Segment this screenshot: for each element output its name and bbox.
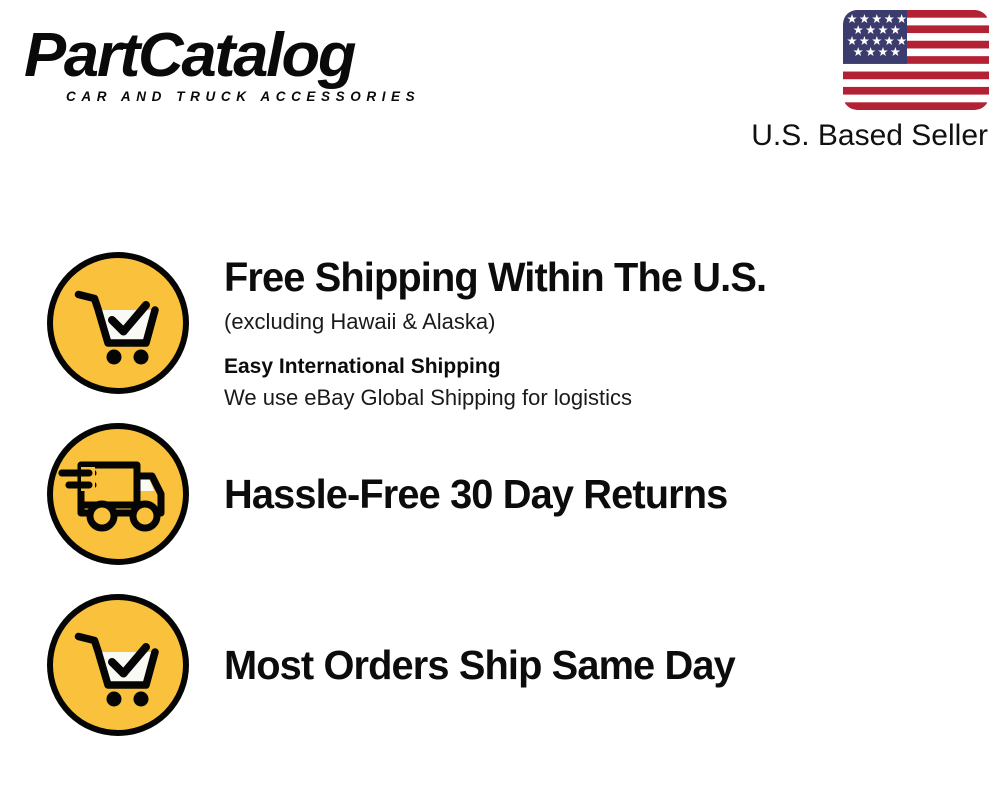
brand-tagline: CAR AND TRUCK ACCESSORIES xyxy=(66,89,494,104)
us-flag-icon xyxy=(843,10,989,110)
feature-row: Most Orders Ship Same Day xyxy=(0,592,1000,738)
delivery-truck-icon xyxy=(45,421,191,567)
feature-text-block: Most Orders Ship Same Day xyxy=(224,592,1000,690)
feature-text-block: Free Shipping Within The U.S. (excluding… xyxy=(224,250,1000,413)
feature-sub-note: We use eBay Global Shipping for logistic… xyxy=(224,383,1000,413)
us-based-seller-label: U.S. Based Seller xyxy=(751,118,988,154)
feature-heading: Hassle-Free 30 Day Returns xyxy=(224,469,977,519)
shipping-info-banner: PartCatalog CAR AND TRUCK ACCESSORIES xyxy=(0,0,1000,800)
feature-text-block: Hassle-Free 30 Day Returns xyxy=(224,421,1000,519)
shopping-cart-check-icon xyxy=(45,250,191,396)
brand-wordmark: PartCatalog xyxy=(24,24,503,88)
feature-heading: Most Orders Ship Same Day xyxy=(224,640,977,690)
feature-heading: Free Shipping Within The U.S. xyxy=(224,252,977,302)
shopping-cart-check-icon xyxy=(45,592,191,738)
feature-note: (excluding Hawaii & Alaska) xyxy=(224,307,1000,337)
feature-row: Free Shipping Within The U.S. (excluding… xyxy=(0,250,1000,413)
feature-row: Hassle-Free 30 Day Returns xyxy=(0,421,1000,567)
brand-logo: PartCatalog CAR AND TRUCK ACCESSORIES xyxy=(24,24,494,119)
feature-sub-heading: Easy International Shipping xyxy=(224,352,1000,382)
